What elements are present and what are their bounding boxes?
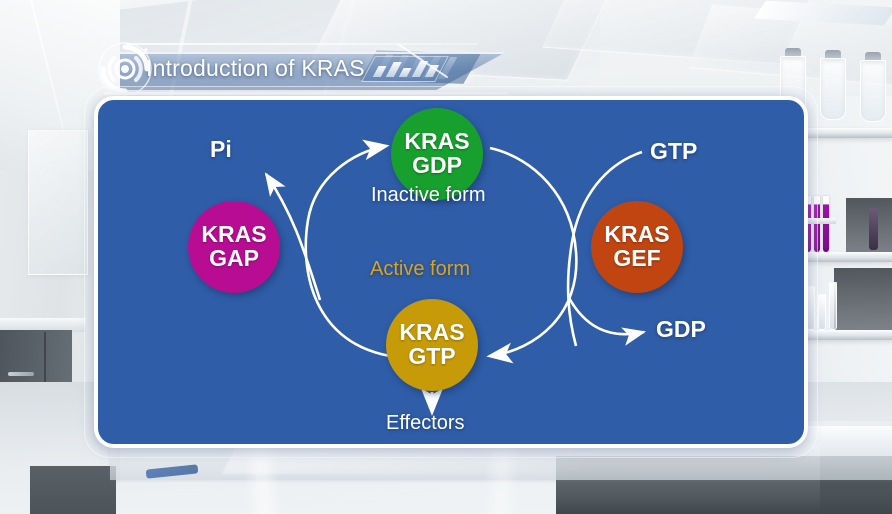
node-line-1: KRAS (201, 223, 266, 247)
dark-reagent-bottle (869, 208, 878, 250)
hanging-beaker (860, 60, 886, 122)
node-kras-gtp[interactable]: KRAS GTP (386, 299, 478, 391)
node-line-2: GDP (412, 154, 462, 178)
label-pi: Pi (210, 136, 232, 163)
label-effectors: Effectors (386, 412, 465, 435)
node-line-2: GTP (408, 345, 455, 369)
arrow-gdp-to-gtp (490, 148, 576, 356)
label-gtp: GTP (650, 138, 697, 165)
node-line-1: KRAS (399, 321, 464, 345)
wall-board (28, 130, 88, 275)
hanging-beaker (820, 58, 846, 120)
cabinet-handle (8, 372, 34, 376)
counter-base-left (30, 466, 116, 514)
test-tube (823, 196, 829, 252)
label-active-form: Active form (370, 258, 470, 281)
node-line-2: GAP (209, 247, 259, 271)
node-kras-gap[interactable]: KRAS GAP (188, 201, 280, 293)
node-line-1: KRAS (404, 130, 469, 154)
label-inactive-form: Inactive form (371, 184, 485, 207)
node-line-1: KRAS (604, 223, 669, 247)
screenshot-root: Introduction of KRAS (0, 0, 892, 514)
node-kras-gef[interactable]: KRAS GEF (591, 201, 683, 293)
title-bar: Introduction of KRAS (120, 52, 506, 90)
title-accent-line (126, 43, 478, 45)
node-line-2: GEF (613, 247, 660, 271)
diagram-panel: KRAS GDP KRAS GTP KRAS GAP KRAS GEF Inac… (94, 96, 808, 448)
page-title: Introduction of KRAS (146, 55, 365, 82)
label-gdp: GDP (656, 316, 706, 343)
arrow-gef-to-gdp (568, 296, 644, 334)
kras-cycle-diagram: KRAS GDP KRAS GTP KRAS GAP KRAS GEF Inac… (98, 100, 804, 444)
